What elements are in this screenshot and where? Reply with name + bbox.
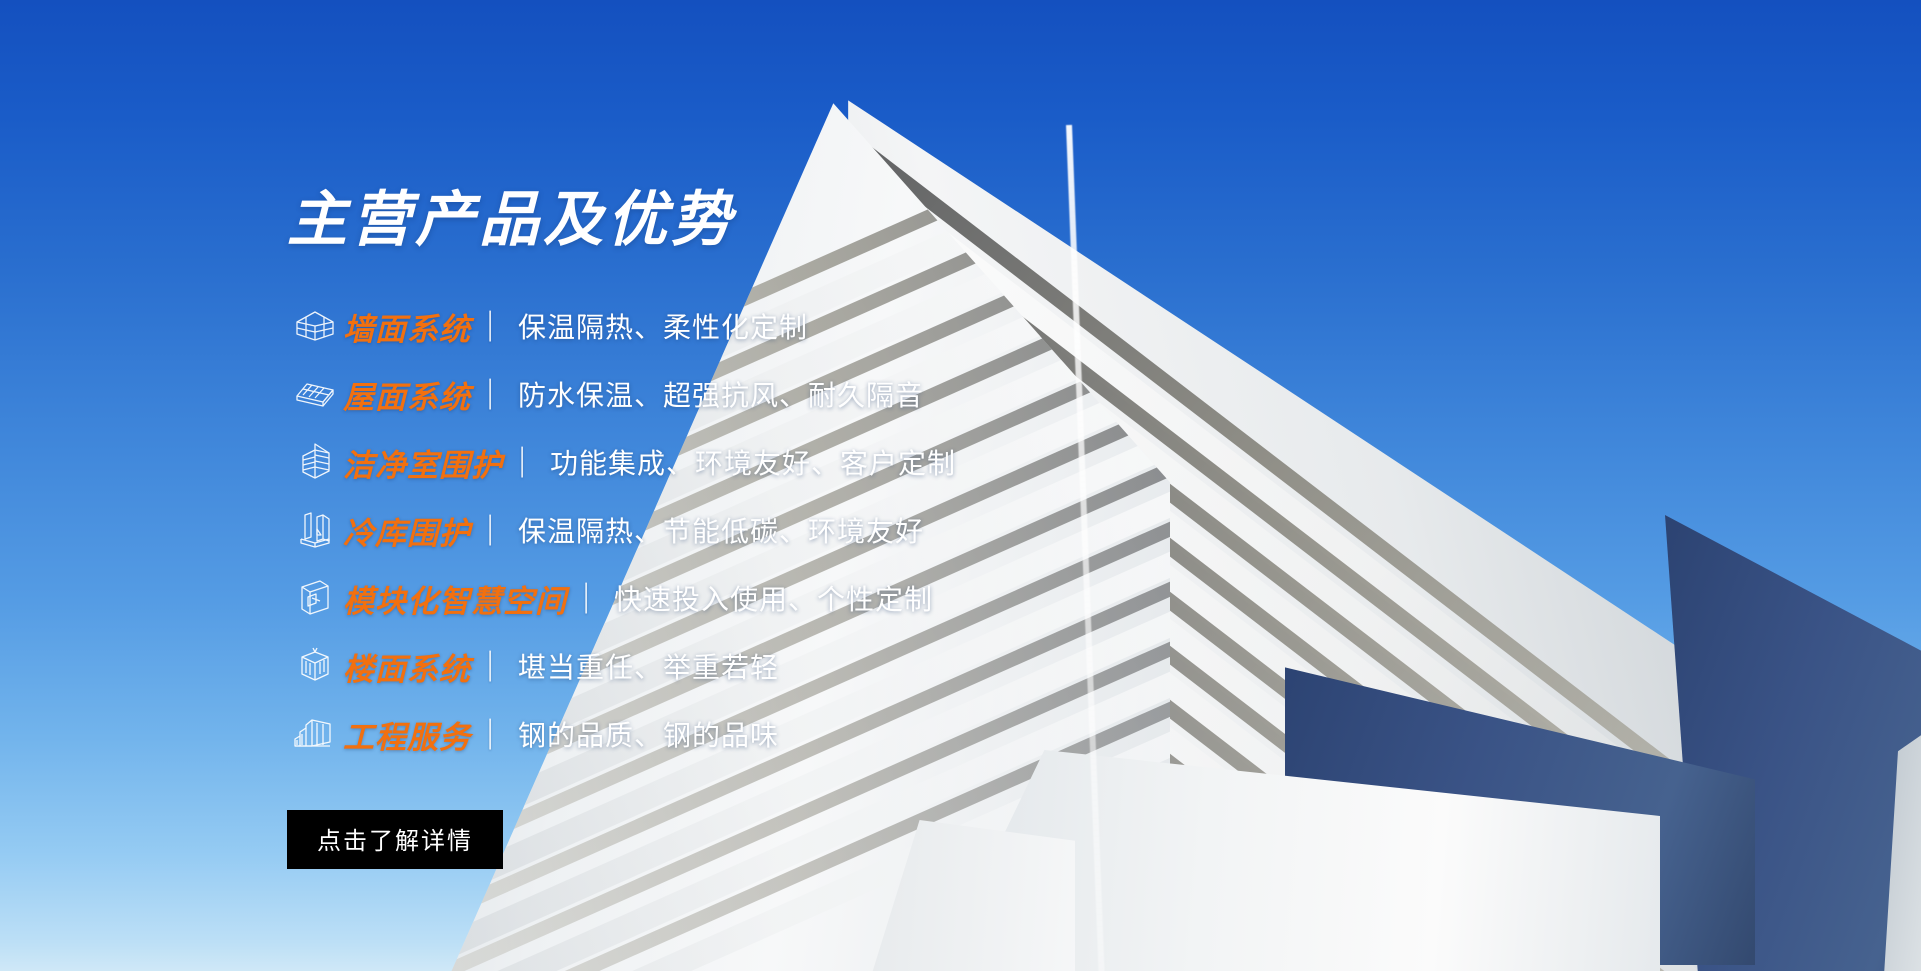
list-item[interactable]: 冷库围护 ▏ 保温隔热、节能低碳、环境友好 xyxy=(287,496,1347,564)
list-item[interactable]: 屋面系统 ▏ 防水保温、超强抗风、耐久隔音 xyxy=(287,360,1347,428)
product-description: 防水保温、超强抗风、耐久隔音 xyxy=(518,374,924,414)
adjacent-building-sliver xyxy=(1880,660,1921,971)
product-name: 屋面系统 xyxy=(343,372,471,417)
cold-storage-enclosure-icon xyxy=(287,506,343,554)
roof-panel-icon xyxy=(287,370,343,418)
page-title: 主营产品及优势 xyxy=(287,190,1347,250)
product-description: 保温隔热、柔性化定制 xyxy=(518,306,808,346)
product-description: 保温隔热、节能低碳、环境友好 xyxy=(518,510,924,550)
list-item[interactable]: 洁净室围护 ▏ 功能集成、环境友好、客户定制 xyxy=(287,428,1347,496)
product-description: 快速投入使用、个性定制 xyxy=(614,578,933,618)
separator: ▏ xyxy=(490,379,501,410)
separator: ▏ xyxy=(490,515,501,546)
product-description: 功能集成、环境友好、客户定制 xyxy=(550,442,956,482)
hero-content: 主营产品及优势 墙面系统 ▏ 保温隔热、柔性化定制 xyxy=(287,190,1347,869)
wall-panel-frame-icon xyxy=(287,302,343,350)
list-item[interactable]: 楼面系统 ▏ 堪当重任、举重若轻 xyxy=(287,632,1347,700)
product-description: 堪当重任、举重若轻 xyxy=(518,646,779,686)
cleanroom-building-icon xyxy=(287,438,343,486)
list-item[interactable]: 模块化智慧空间 ▏ 快速投入使用、个性定制 xyxy=(287,564,1347,632)
separator: ▏ xyxy=(586,583,597,614)
product-name: 工程服务 xyxy=(343,712,471,757)
separator: ▏ xyxy=(490,311,501,342)
product-name: 洁净室围护 xyxy=(343,440,503,485)
learn-more-button[interactable]: 点击了解详情 xyxy=(287,810,503,869)
product-name: 楼面系统 xyxy=(343,644,471,689)
hero-banner: 主营产品及优势 墙面系统 ▏ 保温隔热、柔性化定制 xyxy=(0,0,1921,971)
product-name: 模块化智慧空间 xyxy=(343,576,567,621)
product-list: 墙面系统 ▏ 保温隔热、柔性化定制 屋面系统 xyxy=(287,292,1347,768)
blue-wall-panel-lower xyxy=(1285,645,1755,965)
floor-deck-box-icon xyxy=(287,642,343,690)
separator: ▏ xyxy=(490,651,501,682)
separator: ▏ xyxy=(522,447,533,478)
factory-service-icon xyxy=(287,710,343,758)
product-description: 钢的品质、钢的品味 xyxy=(518,714,779,754)
product-name: 墙面系统 xyxy=(343,304,471,349)
modular-cube-icon xyxy=(287,574,343,622)
list-item[interactable]: 工程服务 ▏ 钢的品质、钢的品味 xyxy=(287,700,1347,768)
product-name: 冷库围护 xyxy=(343,508,471,553)
separator: ▏ xyxy=(490,719,501,750)
list-item[interactable]: 墙面系统 ▏ 保温隔热、柔性化定制 xyxy=(287,292,1347,360)
blue-wall-panel-upper xyxy=(1665,515,1921,971)
